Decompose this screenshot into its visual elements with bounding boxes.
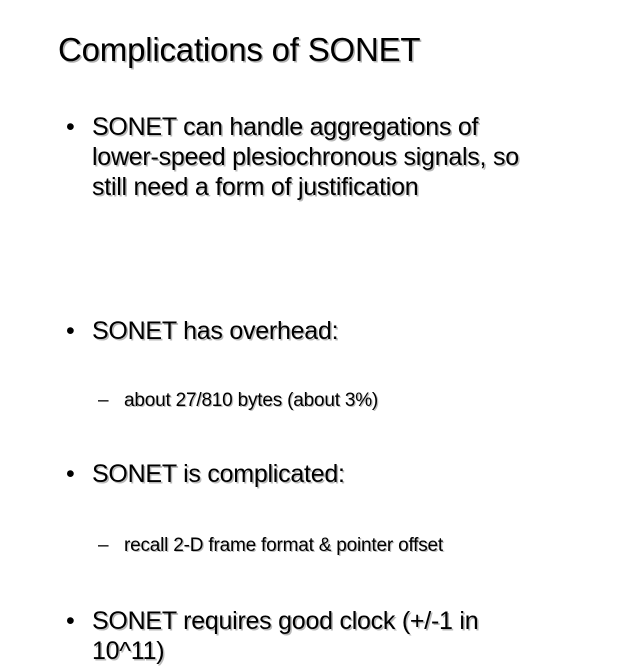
list-item-line: SONET has overhead:: [92, 316, 612, 346]
bullet-dot-icon: •: [66, 459, 75, 489]
list-item-line: still need a form of justification: [92, 172, 612, 202]
sub-list-item: – recall 2-D frame format & pointer offs…: [62, 534, 640, 558]
sub-list-item: – about 27/810 bytes (about 3%): [62, 389, 640, 413]
sub-list-item-line: about 27/810 bytes (about 3%): [124, 389, 640, 413]
bullet-dot-icon: •: [66, 112, 75, 142]
list-item-line: SONET can handle aggregations of: [92, 112, 612, 142]
bullet-dot-icon: •: [66, 606, 75, 636]
list-item: • SONET has overhead:: [62, 316, 612, 346]
dash-marker-icon: –: [98, 534, 108, 558]
list-item: • SONET is complicated:: [62, 459, 612, 489]
slide-canvas: Complications of SONET • SONET can handl…: [0, 0, 640, 480]
sub-list-item-line: recall 2-D frame format & pointer offset: [124, 534, 640, 558]
list-item-line: lower-speed plesiochronous signals, so: [92, 142, 612, 172]
list-item: • SONET can handle aggregations of lower…: [62, 112, 612, 202]
list-item-line: SONET requires good clock (+/-1 in: [92, 606, 612, 636]
dash-marker-icon: –: [98, 389, 108, 413]
bullet-dot-icon: •: [66, 316, 75, 346]
list-item: • SONET requires good clock (+/-1 in 10^…: [62, 606, 612, 666]
list-item-line: SONET is complicated:: [92, 459, 612, 489]
list-item-line: 10^11): [92, 636, 612, 666]
slide-body-list: • SONET can handle aggregations of lower…: [0, 0, 640, 480]
